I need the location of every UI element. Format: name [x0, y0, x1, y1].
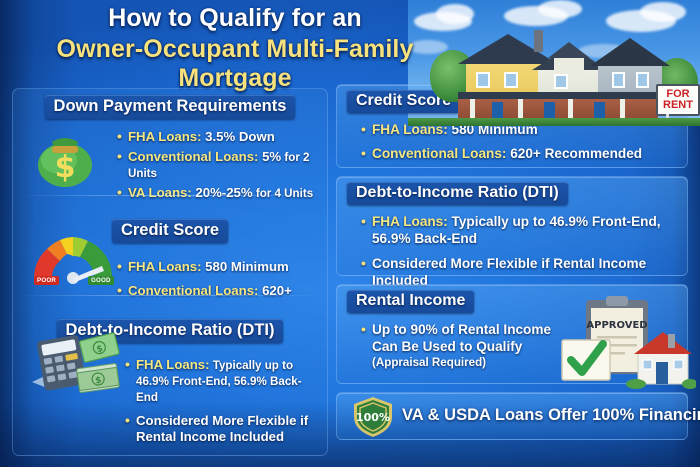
bullet-label: VA Loans:	[128, 185, 192, 200]
bullet-subtext: (Appraisal Required)	[372, 356, 566, 370]
bullet-text: Considered More Flexible if Rental Incom…	[372, 256, 646, 288]
bullet-label: FHA Loans:	[128, 129, 202, 144]
bullet-label: FHA Loans:	[136, 357, 210, 372]
svg-text:APPROVED: APPROVED	[586, 320, 647, 331]
for-rent-sign: FOR RENT	[656, 84, 700, 116]
gauge-label-poor: POOR	[34, 276, 59, 285]
list-item: FHA Loans: 3.5% Down	[117, 129, 319, 145]
list-item: Considered More Flexible if Rental Incom…	[125, 413, 317, 445]
list-item: Conventional Loans: 620+ Recommended	[361, 146, 677, 163]
calculator-cash-icon: $ $	[26, 326, 124, 396]
bullet-text: Up to 90% of Rental Income Can Be Used t…	[372, 322, 551, 354]
bottom-bar-text: VA & USDA Loans Offer 100% Financing	[402, 406, 692, 425]
bullets-down-payment: FHA Loans: 3.5% Down Conventional Loans:…	[117, 129, 319, 202]
page-title: How to Qualify for an Owner-Occupant Mul…	[0, 4, 470, 93]
section-title-down-payment: Down Payment Requirements	[45, 95, 296, 119]
title-line-2: Owner-Occupant Multi-Family Mortgage	[0, 35, 470, 93]
section-title-credit-score-left: Credit Score	[112, 219, 228, 243]
list-item: FHA Loans: 580 Minimum	[117, 259, 319, 275]
credit-gauge-icon: POOR GOOD	[30, 226, 116, 288]
shield-100-percent-icon: 100%	[352, 396, 394, 438]
bullets-credit-score-left: FHA Loans: 580 Minimum Conventional Loan…	[117, 259, 319, 299]
for-rent-sign-line2: RENT	[663, 100, 693, 111]
bullet-label: FHA Loans:	[128, 259, 202, 274]
bullets-rental-income: Up to 90% of Rental Income Can Be Used t…	[361, 322, 566, 370]
gauge-label-good: GOOD	[88, 276, 114, 285]
list-item: FHA Loans: Typically up to 46.9% Front-E…	[125, 357, 317, 405]
bullets-credit-score-right: FHA Loans: 580 Minimum Conventional Loan…	[361, 122, 677, 162]
bullet-text: 620+ Recommended	[506, 146, 642, 161]
bullets-dti-left: FHA Loans: Typically up to 46.9% Front-E…	[125, 357, 317, 446]
section-title-rental-income: Rental Income	[347, 290, 474, 313]
bullet-text: 20%-25%	[192, 185, 253, 200]
list-item: Up to 90% of Rental Income Can Be Used t…	[361, 322, 566, 370]
list-item: FHA Loans: Typically up to 46.9% Front-E…	[361, 214, 671, 247]
list-item: Conventional Loans: 5% for 2 Units	[117, 149, 319, 181]
bullets-dti-right: FHA Loans: Typically up to 46.9% Front-E…	[361, 214, 671, 289]
approved-clipboard-house-icon: APPROVED	[556, 296, 696, 394]
bullet-text: 580 Minimum	[202, 259, 289, 274]
section-dti-right: Debt-to-Income Ratio (DTI) FHA Loans: Ty…	[336, 176, 688, 276]
bullet-label: Conventional Loans:	[372, 146, 506, 161]
bullet-label: Conventional Loans:	[128, 149, 258, 164]
svg-text:100%: 100%	[356, 411, 390, 424]
title-line-1: How to Qualify for an	[0, 4, 470, 33]
bullet-text: 5%	[258, 149, 281, 164]
list-item: Conventional Loans: 620+	[117, 283, 319, 299]
bullet-label: FHA Loans:	[372, 214, 448, 229]
bullet-subtext: for 4 Units	[253, 187, 314, 200]
money-bag-icon: $	[26, 120, 104, 190]
bullet-text: Considered More Flexible if Rental Incom…	[136, 413, 308, 444]
svg-text:$: $	[55, 150, 76, 185]
list-item: VA Loans: 20%-25% for 4 Units	[117, 185, 319, 201]
bullet-text: 3.5% Down	[202, 129, 275, 144]
section-title-dti-right: Debt-to-Income Ratio (DTI)	[347, 182, 568, 205]
